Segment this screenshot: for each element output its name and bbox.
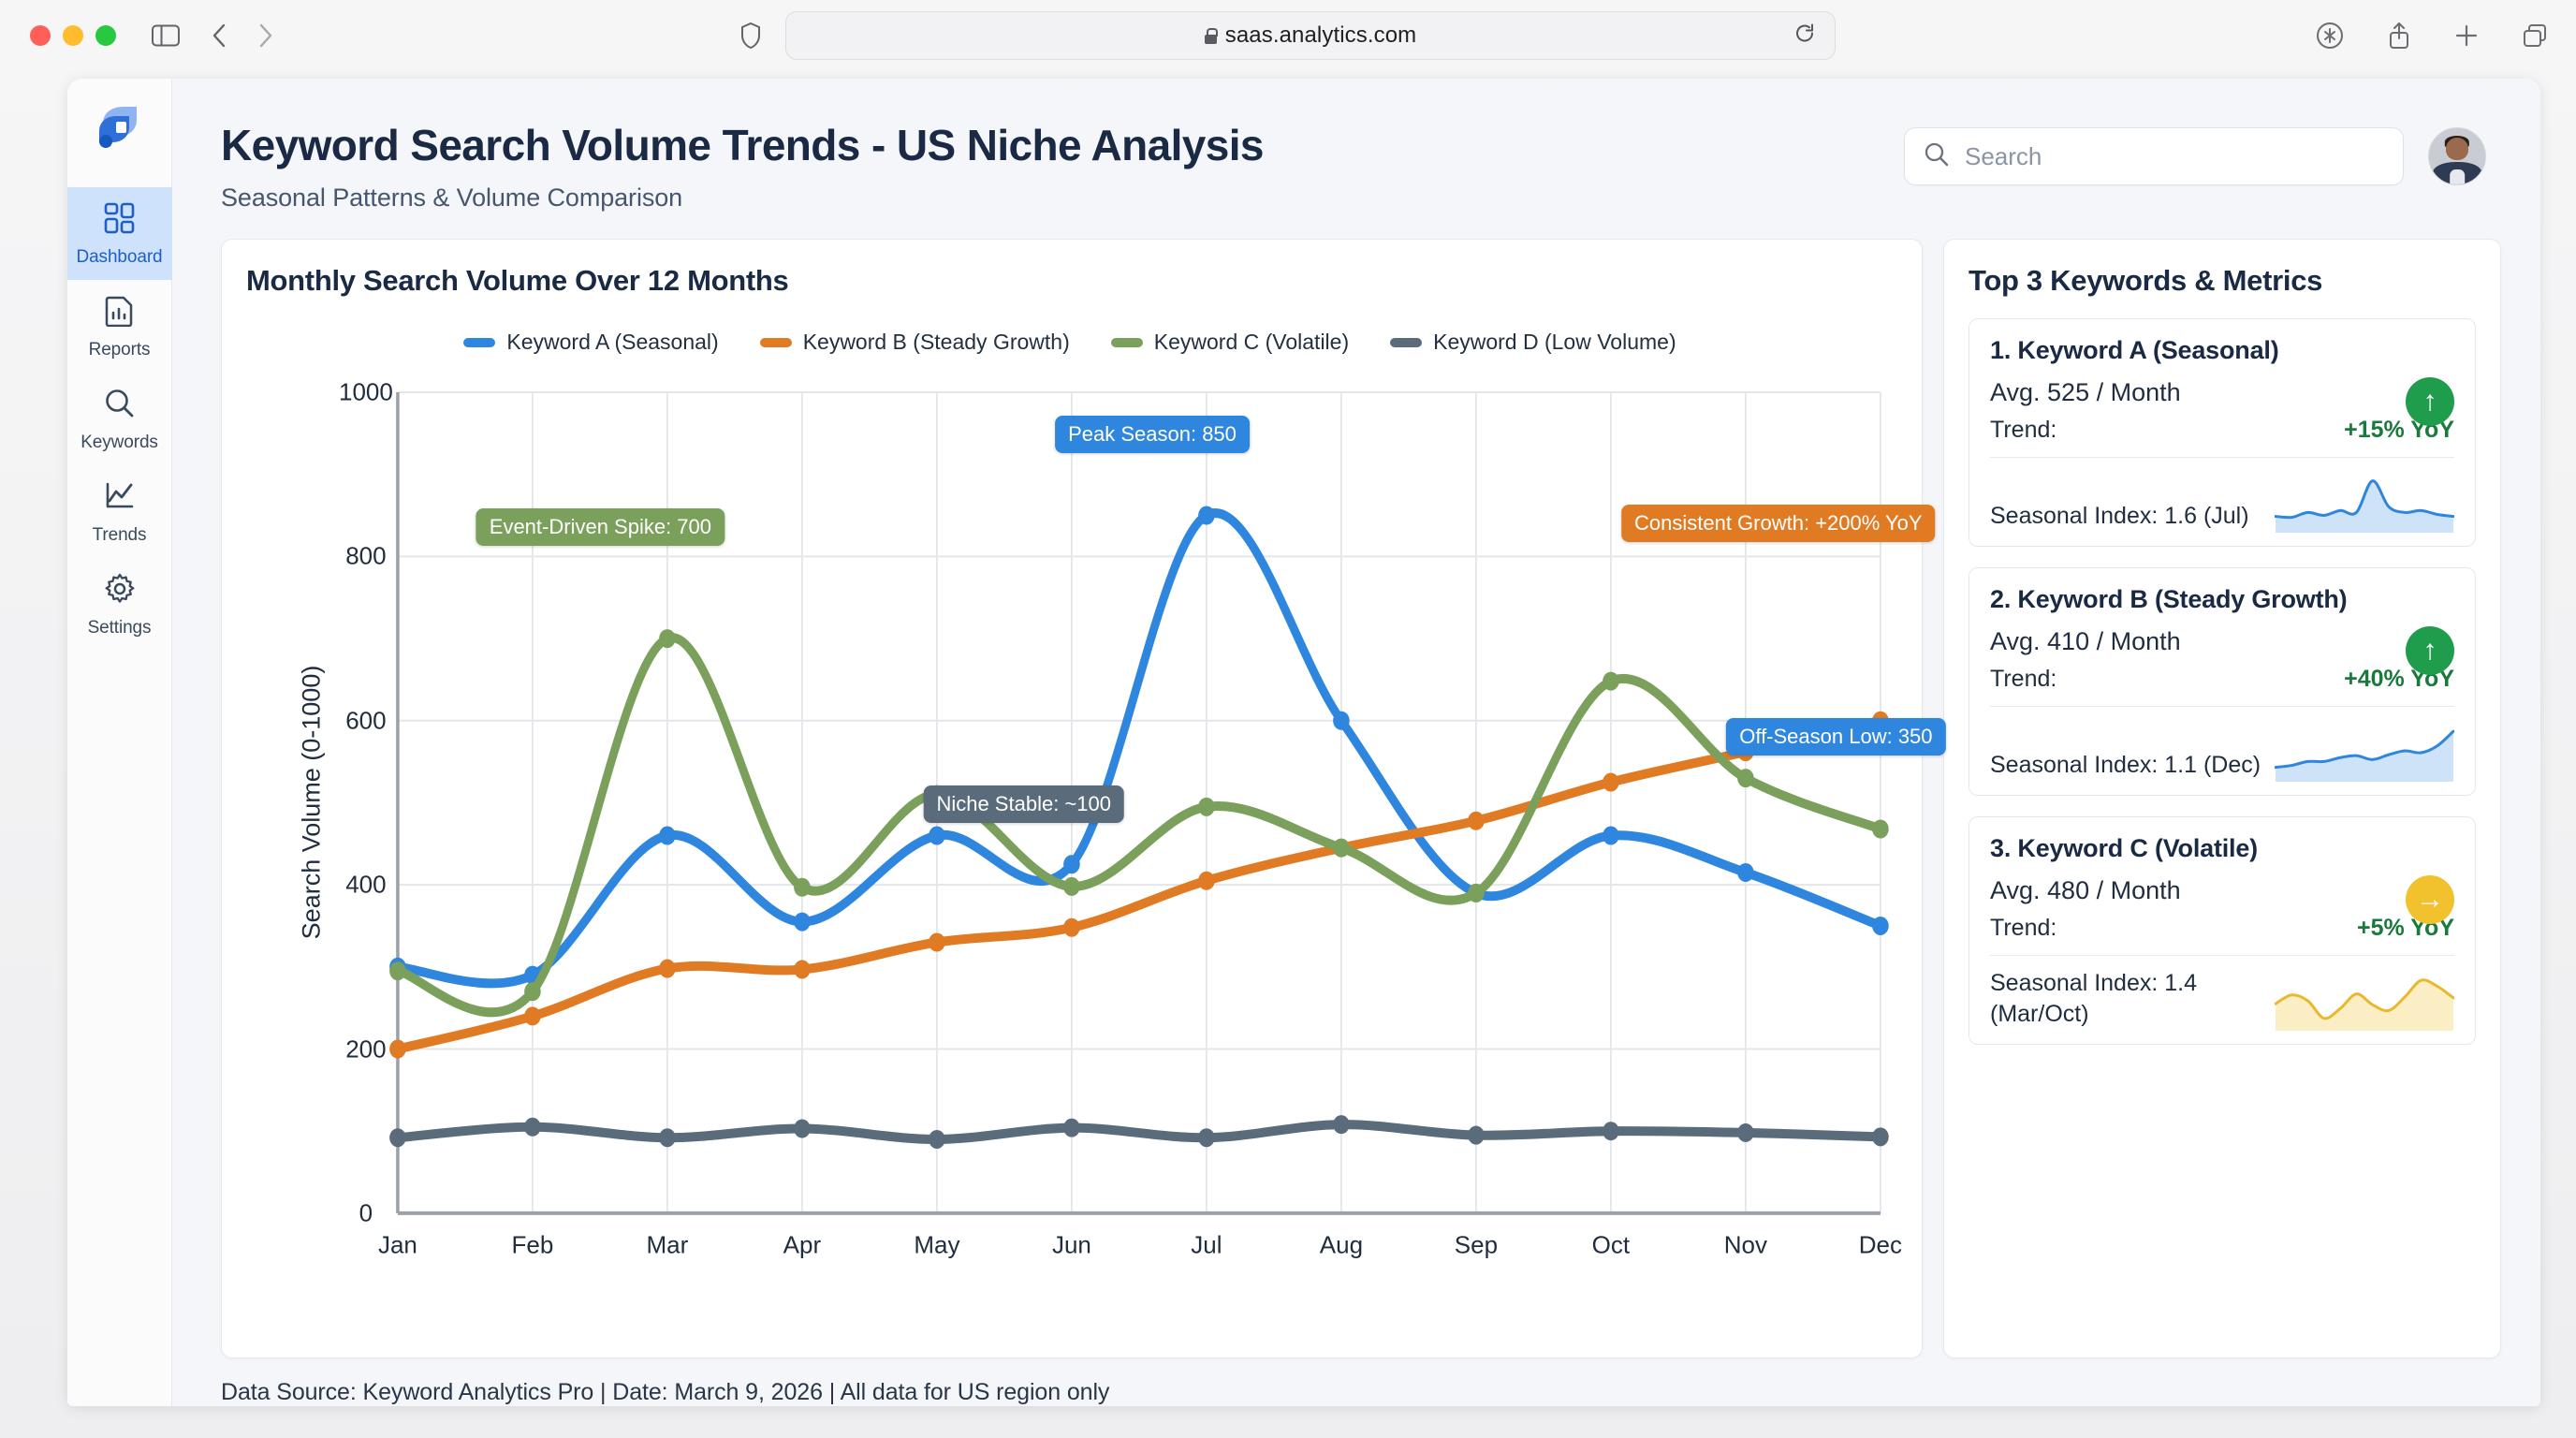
- x-tick-label: Jan: [378, 1230, 417, 1259]
- address-bar-area: saas.analytics.com: [740, 11, 1836, 60]
- address-bar[interactable]: saas.analytics.com: [785, 11, 1836, 60]
- sidebar-item-settings[interactable]: Settings: [67, 558, 172, 651]
- x-tick-label: Apr: [783, 1230, 821, 1259]
- trend-flat-arrow-icon: →: [2406, 875, 2454, 924]
- chart-card: Monthly Search Volume Over 12 Months Key…: [221, 239, 1923, 1358]
- title-block: Keyword Search Volume Trends - US Niche …: [221, 120, 1264, 213]
- keyword-card-list: 1. Keyword A (Seasonal)Avg. 525 / MonthT…: [1969, 318, 2476, 1045]
- close-window-button[interactable]: [30, 25, 51, 46]
- extensions-icon[interactable]: [2316, 22, 2344, 50]
- keyword-card-trend-label: Trend:: [1990, 417, 2056, 444]
- legend-label: Keyword B (Steady Growth): [803, 330, 1070, 355]
- search-icon: [1924, 141, 1950, 172]
- sidebar-item-label: Keywords: [80, 433, 158, 453]
- grid-icon: [104, 202, 136, 239]
- keyword-card-average: Avg. 480 / Month: [1990, 876, 2454, 905]
- x-tick-label: Dec: [1859, 1230, 1902, 1259]
- main-content: Keyword Search Volume Trends - US Niche …: [172, 79, 2540, 1406]
- search-input[interactable]: [1965, 142, 2384, 171]
- sparkline-chart: [2275, 967, 2454, 1031]
- trend-up-arrow-icon: ↑: [2406, 626, 2454, 675]
- header-right: [1904, 127, 2486, 185]
- legend-swatch: [1390, 338, 1422, 347]
- data-source-footer: Data Source: Keyword Analytics Pro | Dat…: [172, 1358, 2540, 1406]
- x-tick-label: Aug: [1320, 1230, 1363, 1259]
- x-tick-label: Mar: [647, 1230, 689, 1259]
- page-title: Keyword Search Volume Trends - US Niche …: [221, 120, 1264, 170]
- lock-icon: [1205, 28, 1217, 44]
- chart-annotation: Niche Stable: ~100: [923, 785, 1124, 823]
- forward-arrow-icon[interactable]: [258, 23, 273, 48]
- keyword-card-seasonal-index: Seasonal Index: 1.4 (Mar/Oct): [1990, 968, 2263, 1032]
- y-tick-label: 800: [345, 542, 386, 571]
- search-box[interactable]: [1904, 127, 2404, 185]
- card-divider: [1990, 457, 2454, 458]
- x-tick-label: Sep: [1455, 1230, 1498, 1259]
- chart-title: Monthly Search Volume Over 12 Months: [246, 264, 1894, 298]
- keyword-metric-card[interactable]: 3. Keyword C (Volatile)Avg. 480 / MonthT…: [1969, 816, 2476, 1045]
- avatar[interactable]: [2428, 127, 2486, 185]
- line-chart-icon: [104, 480, 136, 517]
- legend-swatch: [1111, 338, 1143, 347]
- legend-label: Keyword A (Seasonal): [506, 330, 718, 355]
- sidebar-item-keywords[interactable]: Keywords: [67, 373, 172, 465]
- sidebar-item-label: Reports: [89, 340, 151, 360]
- sidebar-item-trends[interactable]: Trends: [67, 465, 172, 558]
- browser-window: saas.analytics.com: [0, 0, 2576, 1438]
- chart-annotation: Consistent Growth: +200% YoY: [1621, 505, 1936, 542]
- x-tick-label: Jul: [1191, 1230, 1222, 1259]
- y-tick-label: 400: [345, 871, 386, 900]
- window-traffic-lights[interactable]: [30, 25, 116, 46]
- keyword-card-trend-label: Trend:: [1990, 666, 2056, 693]
- y-tick-label: 0: [359, 1198, 373, 1227]
- page-header: Keyword Search Volume Trends - US Niche …: [172, 79, 2540, 213]
- y-tick-label: 600: [345, 706, 386, 735]
- keyword-card-seasonal-index: Seasonal Index: 1.6 (Jul): [1990, 501, 2249, 533]
- x-tick-label: Feb: [512, 1230, 554, 1259]
- sidebar-item-label: Dashboard: [76, 247, 162, 268]
- sidebar-toggle-icon[interactable]: [152, 24, 180, 47]
- x-tick-label: May: [914, 1230, 959, 1259]
- legend-item[interactable]: Keyword A (Seasonal): [463, 330, 718, 355]
- new-tab-icon[interactable]: [2454, 23, 2479, 48]
- x-tick-label: Nov: [1724, 1230, 1767, 1259]
- document-chart-icon: [104, 295, 136, 331]
- browser-toolbar: saas.analytics.com: [0, 0, 2576, 71]
- legend-item[interactable]: Keyword B (Steady Growth): [760, 330, 1070, 355]
- sidebar-item-label: Settings: [88, 618, 152, 638]
- y-tick-label: 1000: [339, 378, 393, 407]
- trend-up-arrow-icon: ↑: [2406, 377, 2454, 426]
- url-text: saas.analytics.com: [1205, 22, 1417, 49]
- app-logo-icon[interactable]: [90, 99, 150, 159]
- keyword-card-average: Avg. 525 / Month: [1990, 378, 2454, 407]
- keyword-card-average: Avg. 410 / Month: [1990, 627, 2454, 656]
- keyword-card-title: 2. Keyword B (Steady Growth): [1990, 585, 2454, 614]
- x-tick-label: Jun: [1052, 1230, 1091, 1259]
- nav-arrows[interactable]: [212, 23, 273, 48]
- keyword-metric-card[interactable]: 1. Keyword A (Seasonal)Avg. 525 / MonthT…: [1969, 318, 2476, 547]
- chart-annotation: Off-Season Low: 350: [1726, 718, 1945, 756]
- search-icon: [104, 388, 136, 424]
- legend-swatch: [760, 338, 792, 347]
- toolbar-right-icons: [2316, 22, 2548, 50]
- sidebar-item-label: Trends: [93, 525, 147, 546]
- chart-annotation: Peak Season: 850: [1055, 416, 1250, 453]
- keyword-card-trend-label: Trend:: [1990, 915, 2056, 942]
- metrics-panel-title: Top 3 Keywords & Metrics: [1969, 264, 2476, 298]
- dashboard-panels: Monthly Search Volume Over 12 Months Key…: [172, 213, 2540, 1358]
- sidebar-item-dashboard[interactable]: Dashboard: [67, 187, 172, 280]
- app-sidebar: Dashboard Reports Keywords Trends: [67, 79, 172, 1406]
- legend-label: Keyword D (Low Volume): [1433, 330, 1676, 355]
- gear-icon: [104, 573, 136, 609]
- chart-annotation: Event-Driven Spike: 700: [476, 508, 724, 546]
- card-divider: [1990, 955, 2454, 956]
- app-window: Dashboard Reports Keywords Trends: [67, 79, 2540, 1406]
- chart-legend: Keyword A (Seasonal)Keyword B (Steady Gr…: [246, 330, 1894, 355]
- page-subtitle: Seasonal Patterns & Volume Comparison: [221, 183, 1264, 213]
- legend-item[interactable]: Keyword D (Low Volume): [1390, 330, 1676, 355]
- shield-icon[interactable]: [740, 22, 761, 49]
- sparkline-chart: [2275, 718, 2454, 782]
- url-label: saas.analytics.com: [1225, 22, 1417, 49]
- keyword-card-seasonal-index: Seasonal Index: 1.1 (Dec): [1990, 750, 2261, 782]
- keyword-card-title: 1. Keyword A (Seasonal): [1990, 336, 2454, 365]
- legend-swatch: [463, 338, 495, 347]
- legend-label: Keyword C (Volatile): [1154, 330, 1349, 355]
- sidebar-item-reports[interactable]: Reports: [67, 280, 172, 373]
- back-arrow-icon[interactable]: [212, 23, 227, 48]
- legend-item[interactable]: Keyword C (Volatile): [1111, 330, 1349, 355]
- keyword-metric-card[interactable]: 2. Keyword B (Steady Growth)Avg. 410 / M…: [1969, 567, 2476, 796]
- x-tick-label: Oct: [1592, 1230, 1630, 1259]
- reload-icon[interactable]: [1793, 22, 1816, 50]
- metrics-panel: Top 3 Keywords & Metrics 1. Keyword A (S…: [1943, 239, 2501, 1358]
- card-divider: [1990, 706, 2454, 707]
- minimize-window-button[interactable]: [63, 25, 83, 46]
- maximize-window-button[interactable]: [95, 25, 116, 46]
- share-icon[interactable]: [2387, 22, 2411, 50]
- y-tick-label: 200: [345, 1034, 386, 1064]
- tab-overview-icon[interactable]: [2522, 22, 2548, 49]
- chart-plot-area: 02004006008001000JanFebMarAprMayJunJulAu…: [246, 366, 1894, 1341]
- sparkline-chart: [2275, 469, 2454, 533]
- y-axis-label: Search Volume (0-1000): [297, 666, 326, 940]
- keyword-card-title: 3. Keyword C (Volatile): [1990, 834, 2454, 863]
